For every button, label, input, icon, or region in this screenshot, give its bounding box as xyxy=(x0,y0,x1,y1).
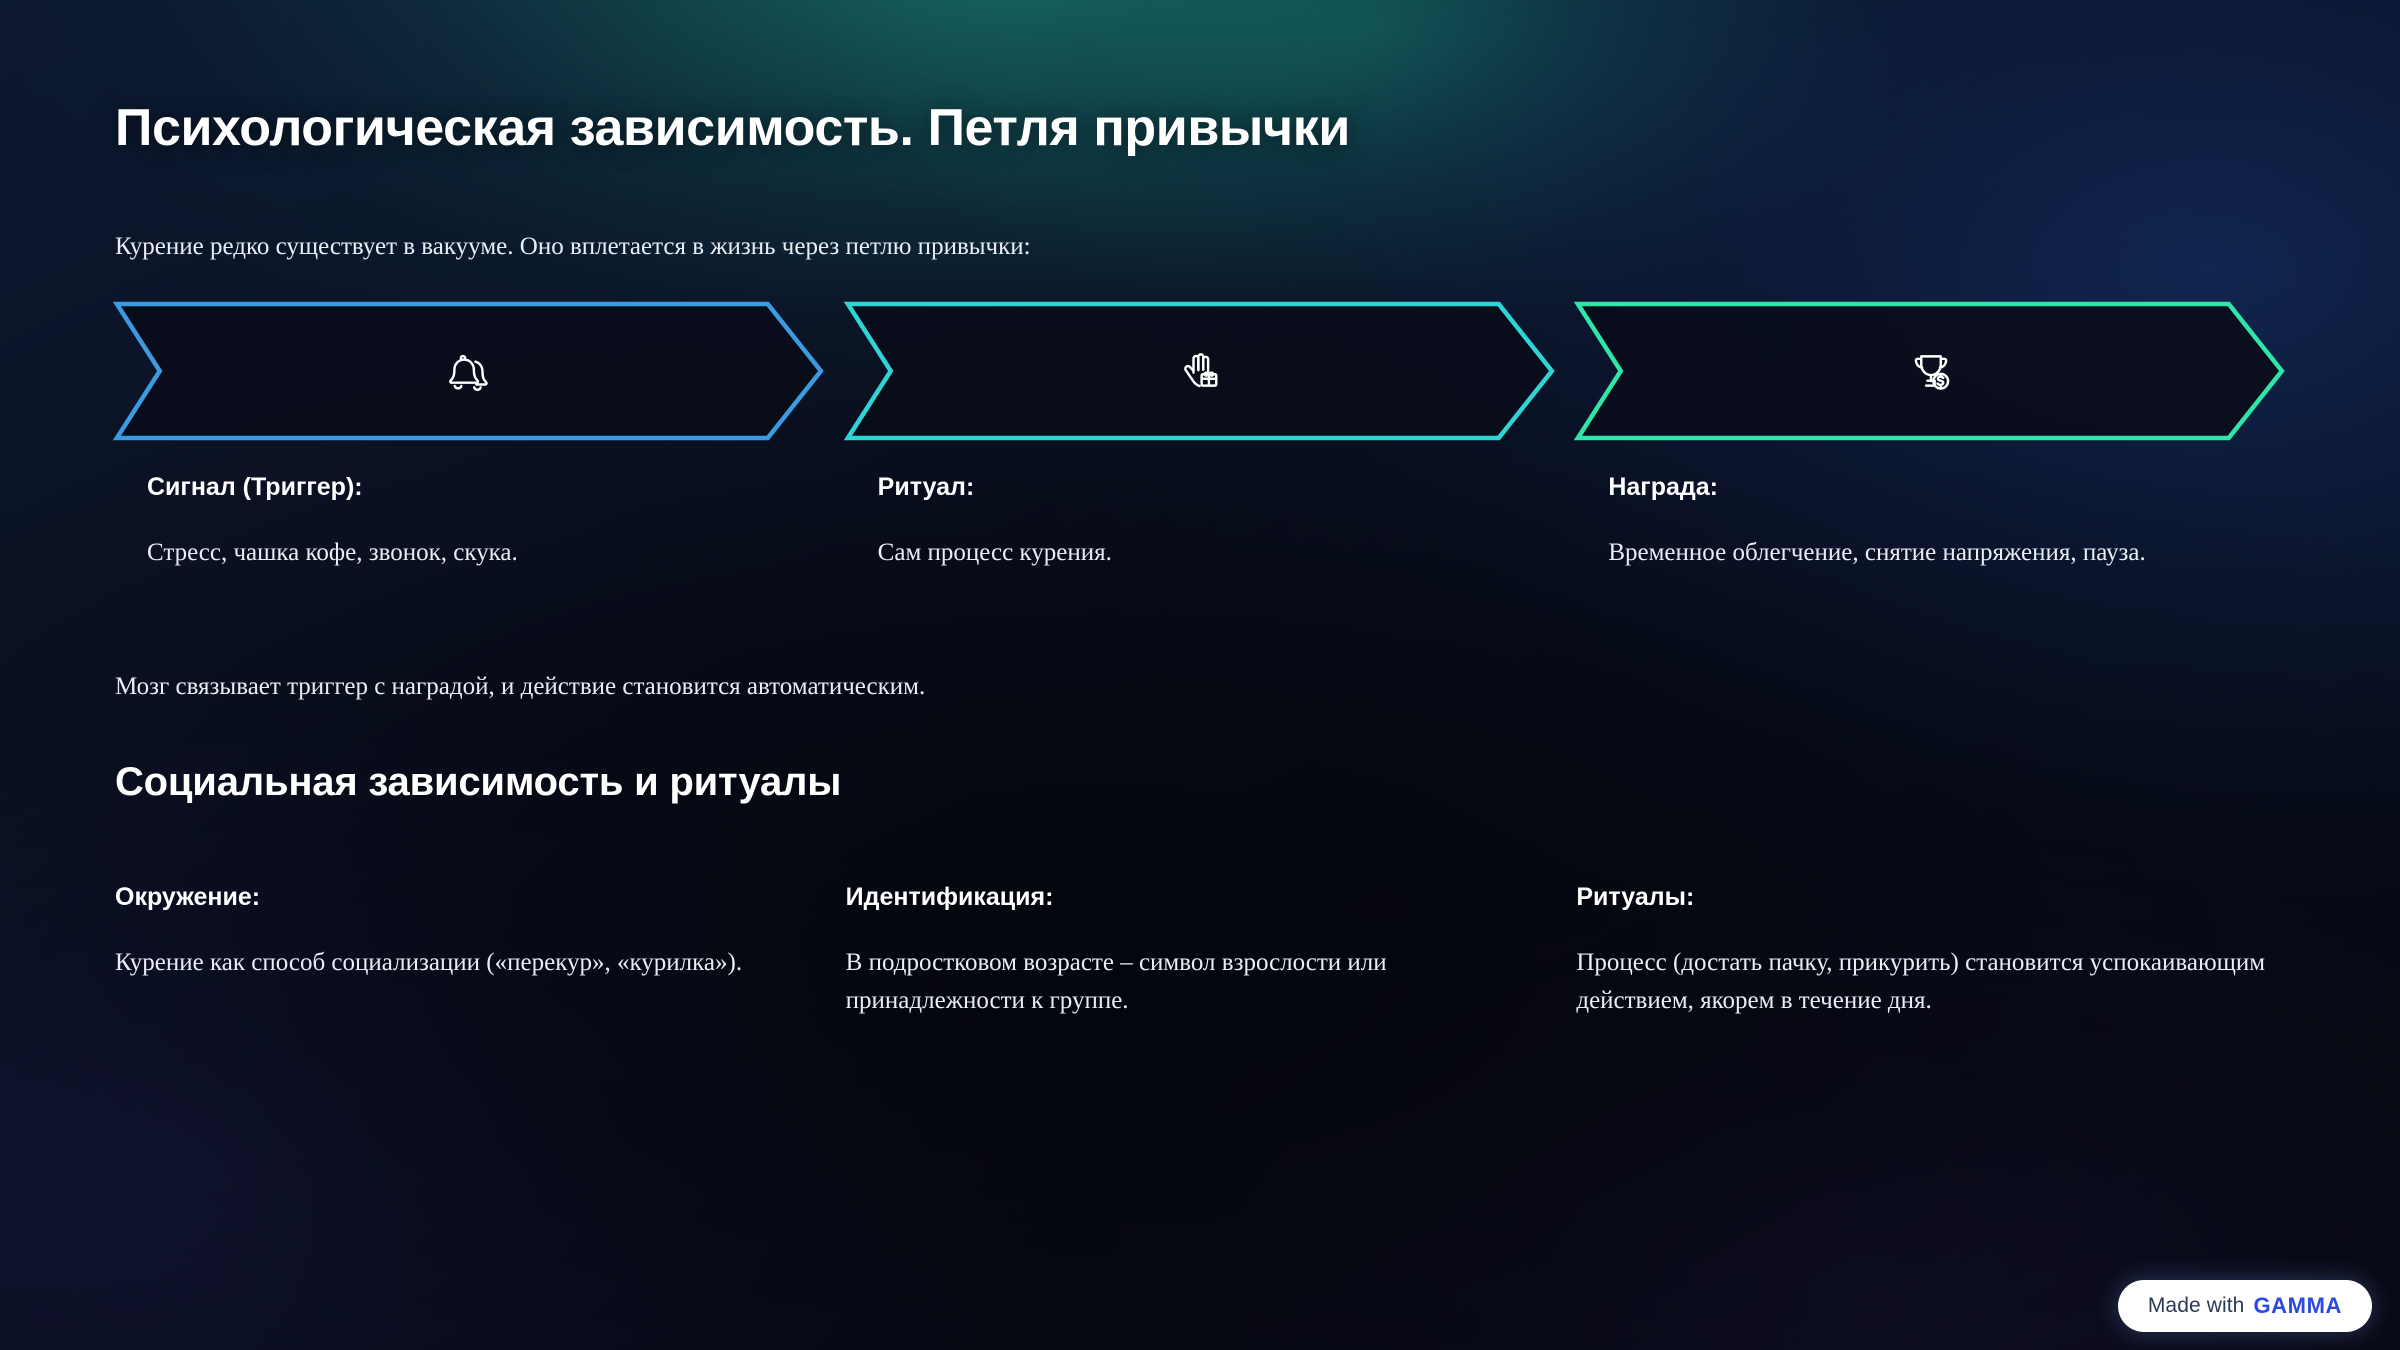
habit-step-body-3: Временное облегчение, снятие напряжения,… xyxy=(1608,534,2285,572)
chevron-step-2[interactable] xyxy=(846,301,1555,441)
social-body-2: В подростковом возрасте – символ взросло… xyxy=(846,944,1555,1020)
social-heading-3: Ритуалы: xyxy=(1576,881,2285,914)
slide-content: Психологическая зависимость. Петля привы… xyxy=(0,0,2400,1020)
slide-canvas: Психологическая зависимость. Петля привы… xyxy=(0,0,2400,1350)
habit-loop-descriptions: Сигнал (Триггер): Стресс, чашка кофе, зв… xyxy=(115,471,2285,572)
social-body-3: Процесс (достать пачку, прикурить) стано… xyxy=(1576,944,2285,1020)
habit-loop-chevrons xyxy=(115,301,2285,441)
habit-step-heading-1: Сигнал (Триггер): xyxy=(147,471,824,504)
social-heading-1: Окружение: xyxy=(115,881,824,914)
habit-step-body-2: Сам процесс курения. xyxy=(878,534,1555,572)
intro-paragraph: Курение редко существует в вакууме. Оно … xyxy=(115,158,2285,267)
section-title: Социальная зависимость и ритуалы xyxy=(115,706,2285,806)
habit-step-column-2: Ритуал: Сам процесс курения. xyxy=(846,471,1555,572)
chevron-outline-1 xyxy=(117,304,821,438)
social-column-1: Окружение: Курение как способ социализац… xyxy=(115,881,824,1020)
chevron-step-1[interactable] xyxy=(115,301,824,441)
habit-step-column-3: Награда: Временное облегчение, снятие на… xyxy=(1576,471,2285,572)
chevron-outline-2 xyxy=(848,304,1552,438)
middle-paragraph: Мозг связывает триггер с наградой, и дей… xyxy=(115,572,2285,707)
chevron-outline-3 xyxy=(1578,304,2282,438)
page-title: Психологическая зависимость. Петля привы… xyxy=(115,0,2285,158)
habit-step-heading-3: Награда: xyxy=(1608,471,2285,504)
habit-step-body-1: Стресс, чашка кофе, звонок, скука. xyxy=(147,534,824,572)
made-with-gamma-badge[interactable]: Made with GAMMA xyxy=(2118,1280,2372,1332)
social-body-1: Курение как способ социализации («переку… xyxy=(115,944,824,982)
habit-step-heading-2: Ритуал: xyxy=(878,471,1555,504)
badge-made-with-label: Made with xyxy=(2148,1294,2245,1318)
badge-brand-label: GAMMA xyxy=(2253,1293,2342,1319)
social-heading-2: Идентификация: xyxy=(846,881,1555,914)
habit-step-column-1: Сигнал (Триггер): Стресс, чашка кофе, зв… xyxy=(115,471,824,572)
social-columns: Окружение: Курение как способ социализац… xyxy=(115,881,2285,1020)
chevron-step-3[interactable] xyxy=(1576,301,2285,441)
social-column-3: Ритуалы: Процесс (достать пачку, прикури… xyxy=(1576,881,2285,1020)
social-column-2: Идентификация: В подростковом возрасте –… xyxy=(846,881,1555,1020)
